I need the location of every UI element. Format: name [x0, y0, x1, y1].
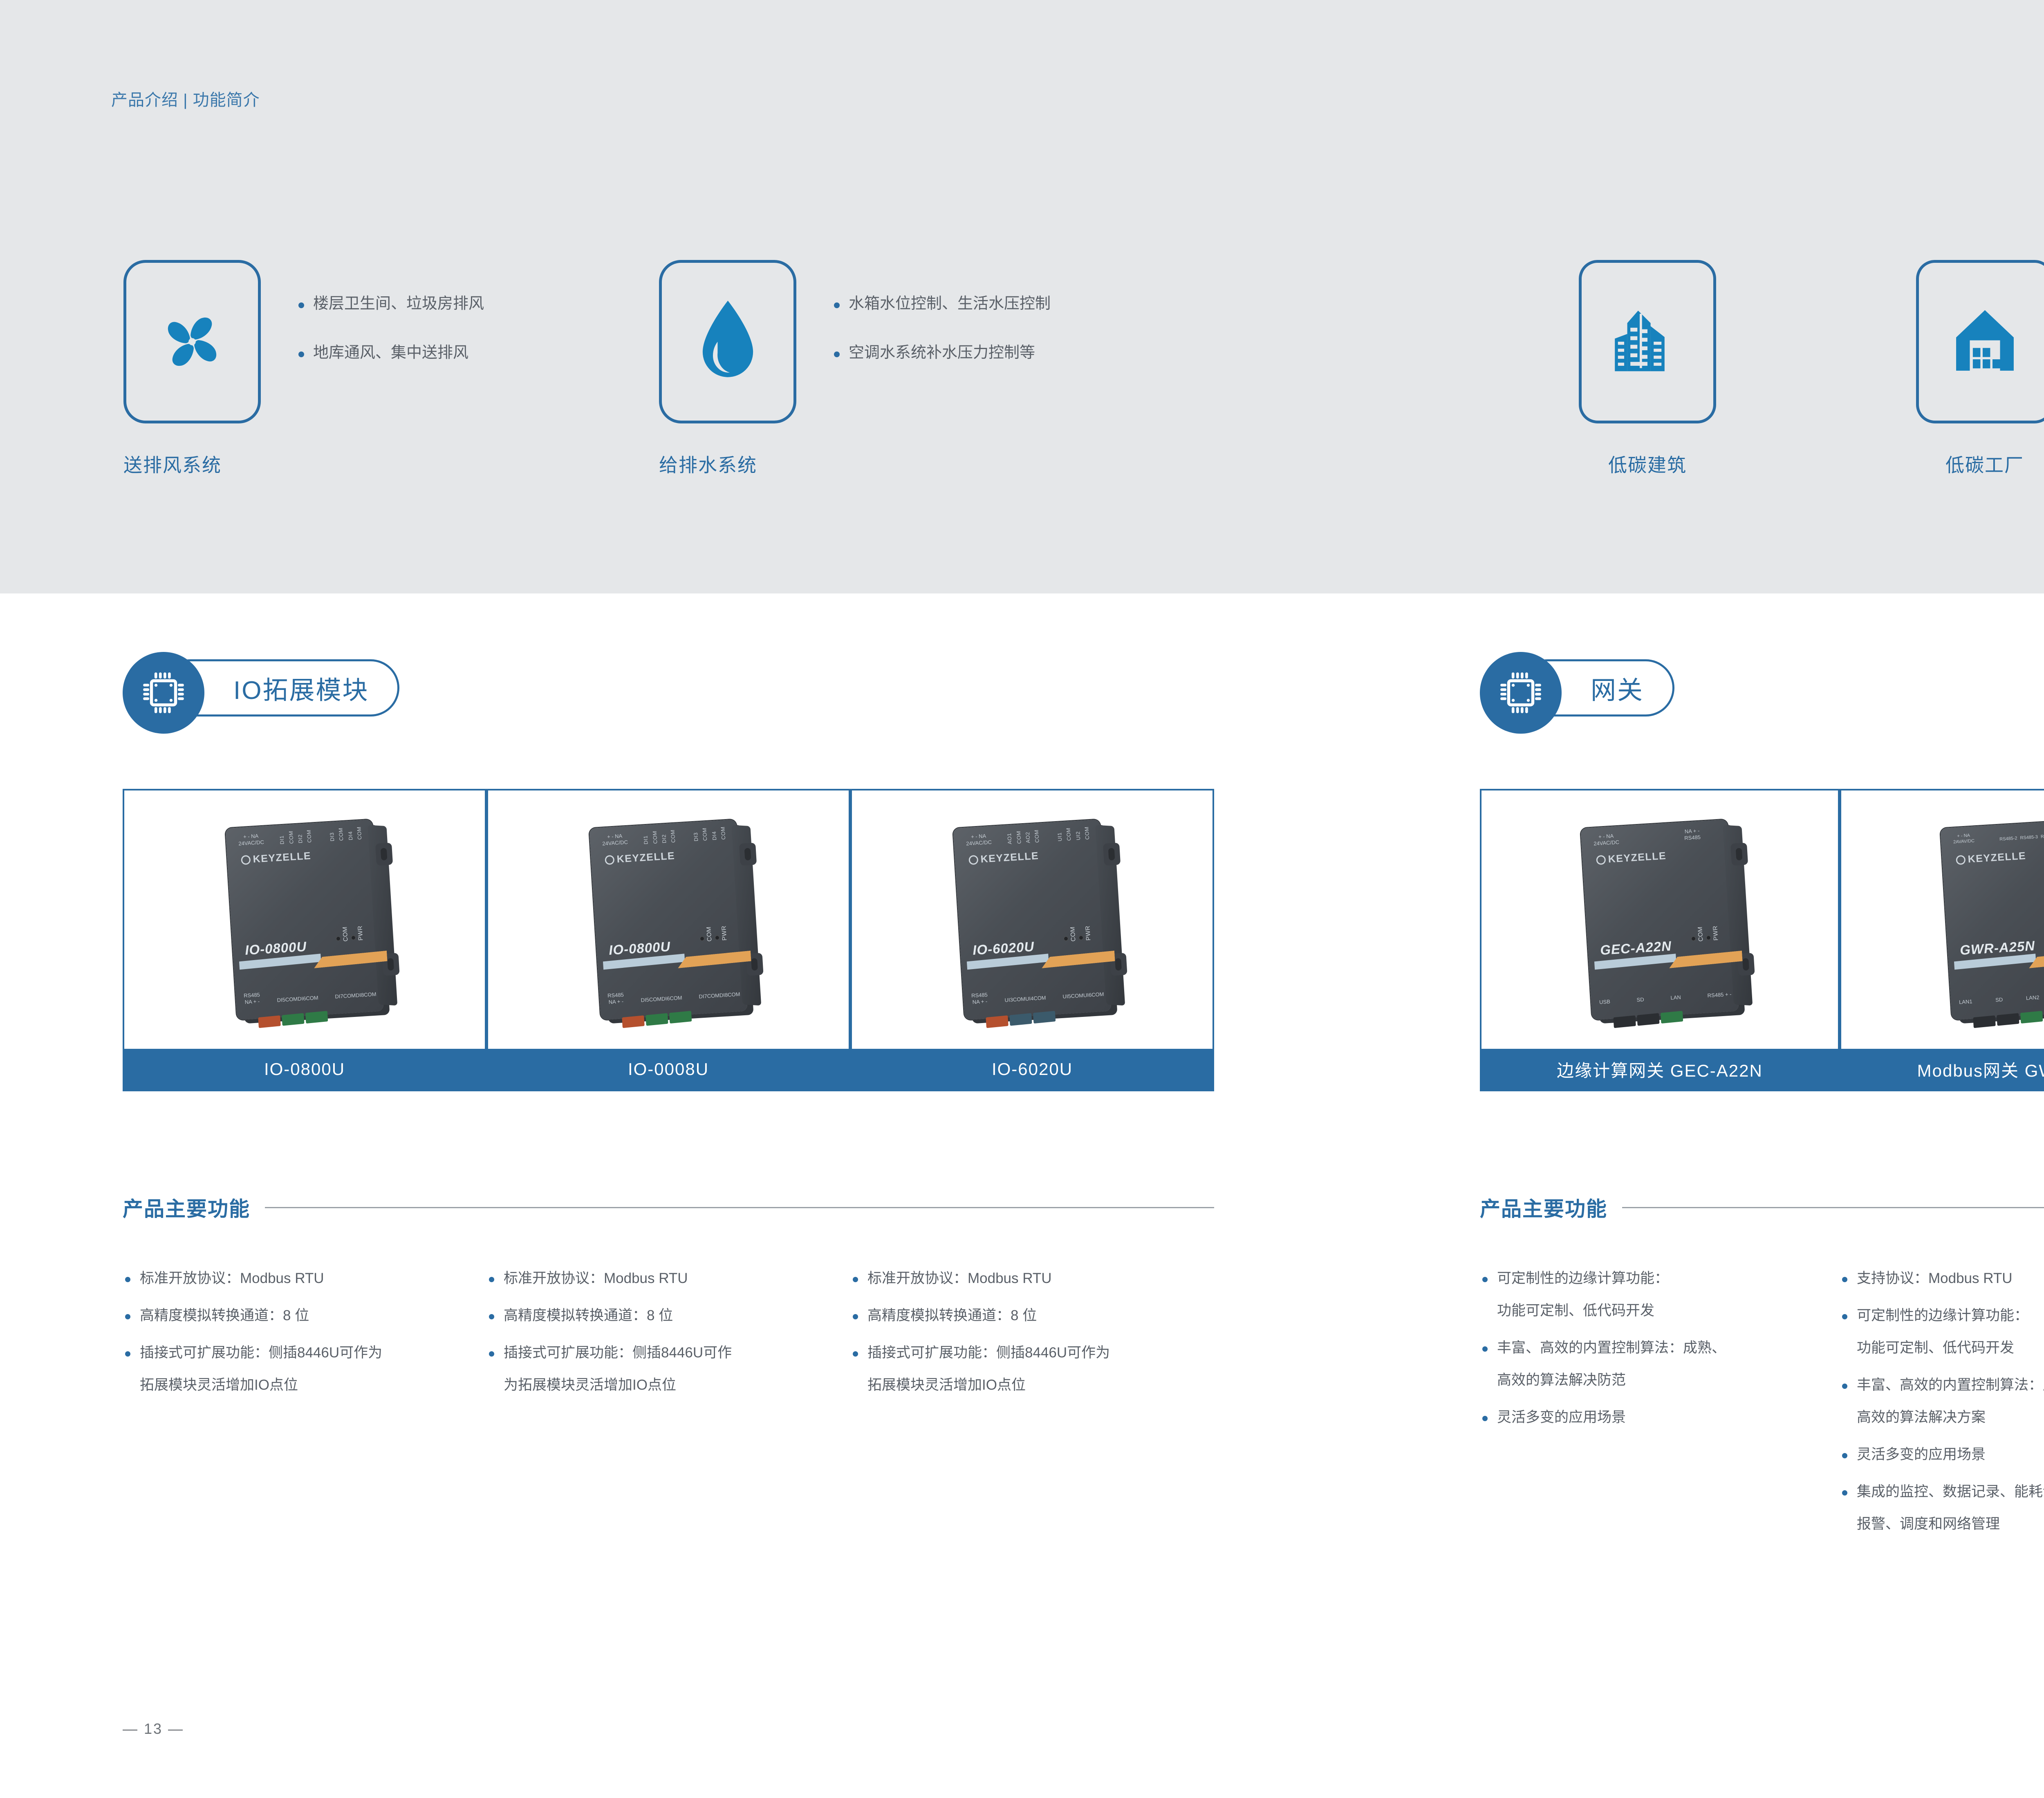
led-com	[1691, 936, 1696, 941]
brand-ring-icon	[605, 855, 614, 865]
feature-column: 标准开放协议：Modbus RTU 高精度模拟转换通道：8 位 插接式可扩展功能…	[850, 1271, 1210, 1415]
list-item: 地库通风、集中送排风	[295, 345, 484, 360]
device-power-spec: 24VAC/DC	[966, 839, 992, 847]
list-item: 可定制性的边缘计算功能： 功能可定制、低代码开发	[1480, 1271, 1823, 1318]
factory-icon-box	[1916, 260, 2044, 423]
led-pwr	[1706, 935, 1711, 940]
list-item: 标准开放协议：Modbus RTU	[486, 1271, 838, 1285]
running-header-left: 产品介绍 | 功能简介	[111, 87, 260, 110]
device-port-label: DI1	[279, 835, 286, 845]
section-title: IO拓展模块	[233, 669, 369, 706]
feature-column: 支持协议：Modbus RTU 可定制性的边缘计算功能：功能可定制、低代码开发 …	[1840, 1271, 2044, 1554]
list-item: 楼层卫生间、垃圾房排风	[295, 296, 484, 311]
device-illustration: + - NA 24VAC/DC DI1COMDI2COM DI3COMDI4CO…	[225, 819, 384, 1020]
scenario-title: 送排风系统	[123, 450, 261, 477]
device-rs485-pins: NA + -	[972, 998, 988, 1006]
list-item: 插接式可扩展功能：侧插8446U可作为拓展模块灵活增加IO点位	[486, 1346, 838, 1392]
device-port-label: DI4	[347, 831, 354, 840]
scenario-title: 给排水系统	[659, 450, 796, 477]
chip-icon	[139, 669, 188, 717]
fan-icon	[153, 303, 231, 381]
device-port-label: RS485	[1684, 834, 1701, 842]
office-buildings-icon-box	[1579, 260, 1716, 423]
device-port-label: LAN2	[2026, 994, 2039, 1001]
product-caption: Modbus网关 GWR-A25N	[1841, 1049, 2044, 1090]
water-drop-icon-box	[659, 260, 796, 423]
led-pwr	[715, 935, 720, 940]
product-card[interactable]: + - NA 24VAC/DC DI1COMDI2COM DI3COMDI4CO…	[123, 789, 486, 1091]
device-port-label: COM	[338, 828, 345, 841]
device-illustration: + - NA 2AVAV/DC RS485-2 RS485-3 RS485-4 …	[1940, 819, 2044, 1020]
led-pwr	[1079, 935, 1084, 940]
divider	[1622, 1207, 2044, 1208]
section-header-io: IO拓展模块	[123, 652, 425, 734]
led-com	[1064, 936, 1069, 941]
scenario-block-water: 给排水系统 水箱水位控制、生活水压控制 空调水系统补水压力控制等	[659, 260, 796, 477]
list-item: 可定制性的边缘计算功能：功能可定制、低代码开发	[1840, 1308, 2044, 1355]
feature-column: 可定制性的边缘计算功能： 功能可定制、低代码开发 丰富、高效的内置控制算法：成熟…	[1480, 1271, 1823, 1447]
led-com	[336, 936, 341, 941]
section-title: 网关	[1591, 669, 1644, 706]
device-power-spec: 24VAC/DC	[602, 839, 628, 847]
list-item: 灵活多变的应用场景	[1840, 1447, 2044, 1462]
list-item: 水箱水位控制、生活水压控制	[831, 296, 1051, 311]
brand-ring-icon	[1596, 855, 1606, 865]
list-item: 集成的监控、数据记录、能耗计量、报警、调度和网络管理	[1840, 1485, 2044, 1531]
device-port-label: RS485-2	[1999, 836, 2017, 842]
product-card[interactable]: + - NA 24VAC/DC AO1COMAO2COM UI1COMUI2CO…	[850, 789, 1214, 1091]
device-illustration: + - NA 24VAC/DC DI1COMDI2COM DI3COMDI4CO…	[589, 819, 748, 1020]
list-item: 插接式可扩展功能：侧插8446U可作为拓展模块灵活增加IO点位	[850, 1346, 1210, 1392]
list-item: 灵活多变的应用场景	[1480, 1410, 1823, 1424]
chip-icon-badge	[123, 652, 204, 734]
features-header-io: 产品主要功能	[123, 1193, 1214, 1222]
brand-ring-icon	[968, 855, 978, 865]
product-card[interactable]: + - NA 2AVAV/DC RS485-2 RS485-3 RS485-4 …	[1840, 789, 2044, 1091]
list-item: 标准开放协议：Modbus RTU	[123, 1271, 474, 1285]
product-image: + - NA 2AVAV/DC RS485-2 RS485-3 RS485-4 …	[1841, 790, 2044, 1049]
device-port-label: COM	[287, 831, 295, 844]
section-header-gateway: 网关	[1480, 652, 1717, 734]
factory-icon	[1947, 302, 2023, 382]
product-card[interactable]: + - NA 24VAC/DC NA + - RS485 KEYZELLE GE…	[1480, 789, 1840, 1091]
device-port-label: USB	[1599, 999, 1611, 1006]
application-block-factory: 低碳工厂	[1916, 260, 2044, 477]
divider	[265, 1207, 1214, 1208]
product-caption: IO-0800U	[124, 1049, 485, 1090]
device-port-label: COM	[306, 829, 313, 843]
list-item: 插接式可扩展功能：侧插8446U可作为拓展模块灵活增加IO点位	[123, 1346, 474, 1392]
led-pwr	[351, 935, 356, 940]
led-com	[700, 936, 705, 941]
application-block-building: 低碳建筑	[1579, 260, 1716, 477]
water-drop-icon	[692, 299, 764, 385]
application-title: 低碳建筑	[1579, 450, 1716, 477]
list-item: 高精度模拟转换通道：8 位	[123, 1308, 474, 1323]
product-image: + - NA 24VAC/DC DI1COMDI2COM DI3COMDI4CO…	[488, 790, 849, 1049]
device-rs485-pins: NA + -	[244, 998, 261, 1006]
product-caption: IO-6020U	[852, 1049, 1213, 1090]
list-item: 高精度模拟转换通道：8 位	[850, 1308, 1210, 1323]
list-item: 标准开放协议：Modbus RTU	[850, 1271, 1210, 1285]
chip-icon-badge	[1480, 652, 1562, 734]
device-port-label: COM	[356, 826, 363, 840]
features-title: 产品主要功能	[123, 1193, 250, 1222]
product-caption: IO-0008U	[488, 1049, 849, 1090]
device-port-label: LAN	[1670, 994, 1681, 1001]
fan-icon-box	[123, 260, 261, 423]
page-number-left: — 13 —	[123, 1720, 184, 1738]
feature-column: 标准开放协议：Modbus RTU 高精度模拟转换通道：8 位 插接式可扩展功能…	[486, 1271, 838, 1415]
scenario-bullet-list: 楼层卫生间、垃圾房排风 地库通风、集中送排风	[295, 296, 484, 394]
device-port-label: LAN1	[1959, 998, 1972, 1005]
device-rs485-pins: NA + -	[608, 998, 625, 1006]
product-image: + - NA 24VAC/DC DI1COMDI2COM DI3COMDI4CO…	[124, 790, 485, 1049]
application-title: 低碳工厂	[1916, 450, 2044, 477]
device-illustration: + - NA 24VAC/DC NA + - RS485 KEYZELLE GE…	[1580, 819, 1739, 1020]
product-image: + - NA 24VAC/DC NA + - RS485 KEYZELLE GE…	[1481, 790, 1838, 1049]
office-buildings-icon	[1609, 301, 1686, 383]
brand-ring-icon	[241, 855, 251, 865]
device-port-label: RS485-4	[2041, 833, 2044, 840]
list-item: 丰富、高效的内置控制算法：成熟、高效的算法解决方案	[1840, 1378, 2044, 1424]
scenario-block-ventilation: 送排风系统 楼层卫生间、垃圾房排风 地库通风、集中送排风	[123, 260, 261, 477]
product-image: + - NA 24VAC/DC AO1COMAO2COM UI1COMUI2CO…	[852, 790, 1213, 1049]
brand-ring-icon	[1956, 855, 1966, 865]
device-illustration: + - NA 24VAC/DC AO1COMAO2COM UI1COMUI2CO…	[953, 819, 1112, 1020]
features-title: 产品主要功能	[1480, 1193, 1607, 1222]
list-item: 高精度模拟转换通道：8 位	[486, 1308, 838, 1323]
scenario-bullet-list: 水箱水位控制、生活水压控制 空调水系统补水压力控制等	[831, 296, 1051, 394]
device-port-label: SD	[1995, 996, 2003, 1003]
list-item: 空调水系统补水压力控制等	[831, 345, 1051, 360]
device-port-label: DI3	[329, 832, 336, 842]
product-caption: 边缘计算网关 GEC-A22N	[1481, 1049, 1838, 1090]
device-port-label: DI2	[297, 834, 304, 844]
device-power-spec: 24VAC/DC	[238, 839, 264, 847]
product-card[interactable]: + - NA 24VAC/DC DI1COMDI2COM DI3COMDI4CO…	[486, 789, 850, 1091]
list-item: 支持协议：Modbus RTU	[1840, 1271, 2044, 1285]
device-port-label: RS485-3	[2020, 835, 2038, 841]
features-header-gateway: 产品主要功能	[1480, 1193, 2044, 1222]
device-port-label: SD	[1636, 996, 1644, 1003]
list-item: 丰富、高效的内置控制算法：成熟、高效的算法解决防范	[1480, 1341, 1823, 1387]
chip-icon	[1497, 669, 1545, 717]
feature-column: 标准开放协议：Modbus RTU 高精度模拟转换通道：8 位 插接式可扩展功能…	[123, 1271, 474, 1415]
